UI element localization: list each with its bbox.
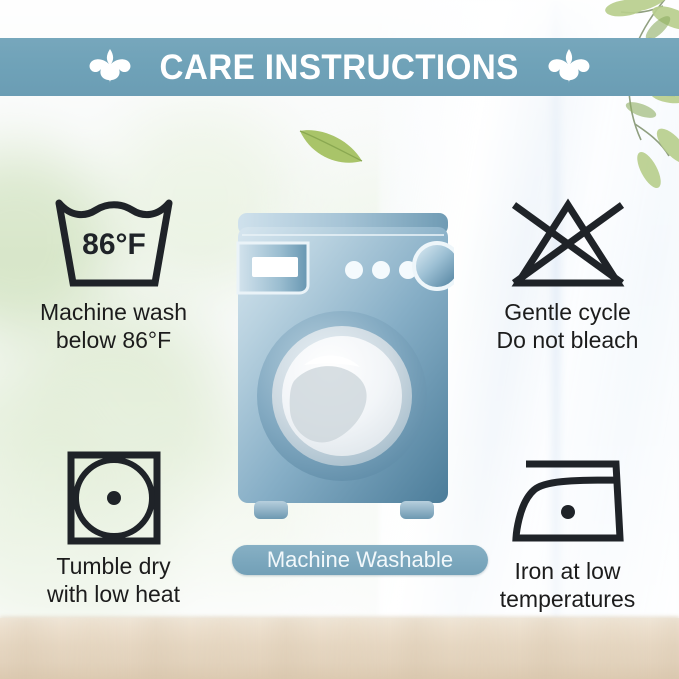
care-symbol-iron: Iron at low temperatures [460,455,675,613]
wooden-surface-grain [0,618,679,679]
care-symbol-tumble-dry: Tumble dry with low heat [6,450,221,608]
iron-icon [512,458,624,548]
care-symbol-machine-wash: 86°F Machine wash below 86°F [6,196,221,354]
page-title: CARE INSTRUCTIONS [160,50,519,85]
care-symbol-caption: Tumble dry with low heat [6,552,221,608]
wash-tub-icon: 86°F [49,197,179,291]
wash-tub-icon-wrap: 86°F [6,196,221,292]
washer-button-2 [372,261,390,279]
machine-washable-badge: Machine Washable [232,545,488,575]
washing-machine-illustration [232,213,454,533]
washer-drawer-slot [252,257,298,277]
triangle-crossed-icon-wrap [460,196,675,292]
triangle-crossed-icon [508,197,628,291]
tumble-dry-icon [66,450,162,546]
iron-icon-wrap [460,455,675,551]
care-symbol-caption: Gentle cycle Do not bleach [460,298,675,354]
washer-foot-right [400,501,434,519]
washer-foot-left [254,501,288,519]
care-instructions-infographic: CARE INSTRUCTIONS 86°F Machine wash belo… [0,0,679,679]
care-symbol-do-not-bleach: Gentle cycle Do not bleach [460,196,675,354]
wash-temperature-value: 86°F [82,228,146,261]
floating-leaf-decoration-icon [296,121,366,169]
care-symbol-caption: Iron at low temperatures [460,557,675,613]
care-symbol-caption: Machine wash below 86°F [6,298,221,354]
fleur-de-lis-left-icon [86,47,134,87]
header-banner: CARE INSTRUCTIONS [0,38,679,96]
machine-washable-badge-label: Machine Washable [267,549,453,571]
fleur-de-lis-right-icon [545,47,593,87]
washer-button-1 [345,261,363,279]
tumble-dry-icon-wrap [6,450,221,546]
leafy-branch-decoration-icon [545,0,679,194]
